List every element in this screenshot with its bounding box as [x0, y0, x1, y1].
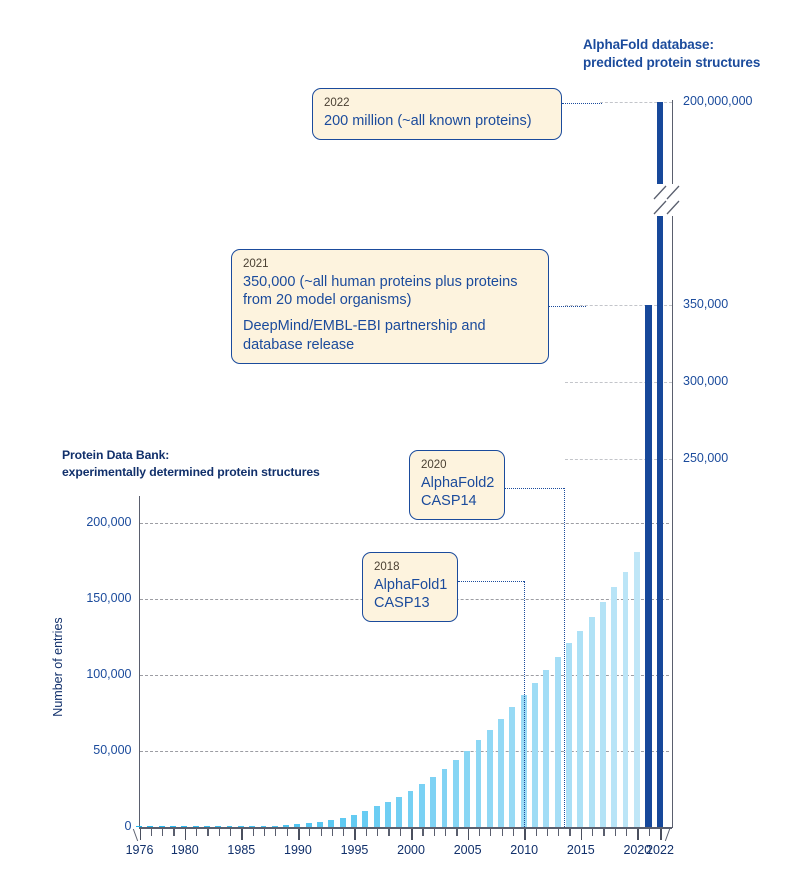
x-tick-2020	[637, 829, 639, 840]
x-tick-1998	[388, 829, 389, 836]
pdb-bar-1997	[374, 806, 380, 827]
pdb-bar-1996	[362, 811, 368, 827]
leader-2020-v	[564, 488, 565, 827]
pdb-bar-1979	[170, 826, 176, 827]
x-tick-2008	[502, 829, 503, 836]
x-tick-label-2015: 2015	[559, 843, 603, 857]
x-tick-1980	[185, 829, 187, 840]
x-tick-1996	[366, 829, 367, 836]
x-tick-2009	[513, 829, 514, 836]
pdb-bar-1987	[261, 826, 267, 827]
pdb-bar-1985	[238, 826, 244, 827]
alphafold-bar-2021	[645, 305, 651, 827]
x-tick-2011	[536, 829, 537, 836]
pdb-bar-2017	[600, 602, 606, 827]
x-tick-1988	[275, 829, 276, 836]
pdb-bar-1977	[147, 826, 153, 827]
pdb-bar-2003	[442, 769, 448, 827]
leader-2020-h	[505, 488, 564, 489]
pdb-bar-1995	[351, 815, 357, 827]
pdb-bar-series	[139, 496, 672, 827]
pdb-title-line1: Protein Data Bank:	[62, 447, 392, 464]
x-tick-1985	[241, 829, 243, 840]
pdb-bar-1992	[317, 822, 323, 827]
x-tick-1982	[207, 829, 208, 836]
x-tick-2002	[434, 829, 435, 836]
x-tick-leader-2022	[657, 829, 670, 841]
pdb-bar-1998	[385, 802, 391, 827]
x-tick-1979	[173, 829, 174, 836]
alphafold-title-line2: predicted protein structures	[583, 54, 798, 72]
pdb-bar-1982	[204, 826, 210, 827]
right-tick-label-200000000: 200,000,000	[683, 94, 753, 108]
pdb-bar-2008	[498, 719, 504, 827]
x-tick-2015	[581, 829, 583, 840]
x-tick-1986	[253, 829, 254, 836]
callout-2018-year: 2018	[374, 560, 446, 575]
pdb-bar-2013	[555, 657, 561, 827]
x-tick-1993	[332, 829, 333, 836]
pdb-bar-1994	[340, 818, 346, 827]
x-tick-label-2022: 2022	[638, 843, 682, 857]
pdb-bar-1976	[136, 826, 142, 827]
pdb-bar-1988	[272, 826, 278, 827]
pdb-bar-2001	[419, 784, 425, 827]
pdb-bar-2002	[430, 777, 436, 827]
callout-2018[interactable]: 2018 AlphaFold1 CASP13	[362, 552, 458, 622]
x-tick-label-1985: 1985	[219, 843, 263, 857]
x-tick-label-1990: 1990	[276, 843, 320, 857]
pdb-bar-2007	[487, 730, 493, 827]
callout-2020[interactable]: 2020 AlphaFold2 CASP14	[409, 450, 505, 520]
alphafold-title-line1: AlphaFold database:	[583, 36, 798, 54]
pdb-bar-2005	[464, 751, 470, 827]
alphafold-section-title: AlphaFold database: predicted protein st…	[583, 36, 798, 72]
x-tick-1983	[219, 829, 220, 836]
pdb-bar-1991	[306, 823, 312, 827]
left-tick-label-200000: 200,000	[24, 515, 132, 529]
x-tick-1995	[354, 829, 356, 840]
x-tick-label-1976: 1976	[118, 843, 162, 857]
x-tick-1978	[162, 829, 163, 836]
x-tick-leader-1976	[132, 829, 144, 841]
leader-2021	[549, 306, 586, 307]
leader-2018-h	[458, 581, 524, 582]
callout-2020-line2: CASP14	[421, 492, 493, 510]
right-tick-label-250000: 250,000	[683, 451, 728, 465]
pdb-bar-2016	[589, 617, 595, 827]
pdb-bar-2018	[611, 587, 617, 827]
callout-2022-year: 2022	[324, 96, 550, 111]
callout-2021-line4: database release	[243, 336, 537, 354]
pdb-bar-2019	[623, 572, 629, 827]
pdb-bar-2020	[634, 552, 640, 827]
x-tick-2006	[479, 829, 480, 836]
callout-2020-year: 2020	[421, 458, 493, 473]
pdb-bar-1980	[181, 826, 187, 827]
callout-2022[interactable]: 2022 200 million (~all known proteins)	[312, 88, 562, 140]
pdb-bar-2014	[566, 643, 572, 827]
pdb-bar-1986	[249, 826, 255, 827]
pdb-bar-2006	[476, 740, 482, 827]
callout-2021-line3: DeepMind/EMBL-EBI partnership and	[243, 317, 537, 335]
x-tick-2005	[468, 829, 470, 840]
pdb-bar-1993	[328, 820, 334, 827]
pdb-bar-2011	[532, 683, 538, 827]
pdb-bar-1981	[193, 826, 199, 827]
x-tick-label-2005: 2005	[446, 843, 490, 857]
callout-2021-line1: 350,000 (~all human proteins plus protei…	[243, 273, 537, 291]
pdb-bar-2012	[543, 670, 549, 827]
pdb-bar-1978	[159, 826, 165, 827]
pdb-section-title: Protein Data Bank: experimentally determ…	[62, 447, 392, 480]
x-tick-2001	[422, 829, 423, 836]
x-tick-label-1995: 1995	[332, 843, 376, 857]
x-tick-2000	[411, 829, 413, 840]
x-tick-1981	[196, 829, 197, 836]
pdb-bar-1984	[227, 826, 233, 827]
x-tick-1997	[377, 829, 378, 836]
x-tick-2017	[603, 829, 604, 836]
callout-2022-line1: 200 million (~all known proteins)	[324, 112, 550, 130]
pdb-bar-1999	[396, 797, 402, 827]
x-tick-label-2000: 2000	[389, 843, 433, 857]
x-tick-2014	[569, 829, 570, 836]
x-tick-1977	[151, 829, 152, 836]
x-tick-1987	[264, 829, 265, 836]
axis-break-right-axis	[664, 184, 682, 216]
x-tick-2007	[490, 829, 491, 836]
x-tick-2019	[626, 829, 627, 836]
pdb-bar-2009	[509, 707, 515, 827]
left-tick-label-50000: 50,000	[24, 743, 132, 757]
pdb-bar-2015	[577, 631, 583, 827]
pdb-bar-1990	[294, 824, 300, 827]
x-tick-1991	[309, 829, 310, 836]
x-tick-2012	[547, 829, 548, 836]
left-tick-label-0: 0	[24, 819, 132, 833]
x-tick-1992	[321, 829, 322, 836]
x-tick-2016	[592, 829, 593, 836]
callout-2018-line2: CASP13	[374, 594, 446, 612]
pdb-title-line2: experimentally determined protein struct…	[62, 464, 392, 481]
x-tick-1989	[287, 829, 288, 836]
callout-2021-line2: from 20 model organisms)	[243, 291, 537, 309]
x-tick-1984	[230, 829, 231, 836]
pdb-bar-1983	[215, 826, 221, 827]
x-tick-2013	[558, 829, 559, 836]
x-tick-2021	[649, 829, 650, 836]
leader-2018-v	[524, 581, 525, 827]
callout-2020-line1: AlphaFold2	[421, 474, 493, 492]
x-tick-2010	[524, 829, 526, 840]
x-tick-1990	[298, 829, 300, 840]
x-tick-2004	[456, 829, 457, 836]
pdb-bar-2000	[408, 791, 414, 827]
x-tick-label-2010: 2010	[502, 843, 546, 857]
left-tick-label-100000: 100,000	[24, 667, 132, 681]
callout-2021[interactable]: 2021 350,000 (~all human proteins plus p…	[231, 249, 549, 364]
callout-2021-year: 2021	[243, 257, 537, 272]
right-tick-label-350000: 350,000	[683, 297, 728, 311]
leader-2022	[562, 103, 602, 104]
x-tick-1994	[343, 829, 344, 836]
pdb-bar-1989	[283, 825, 289, 827]
x-tick-1999	[400, 829, 401, 836]
x-tick-2003	[445, 829, 446, 836]
callout-2018-line1: AlphaFold1	[374, 576, 446, 594]
left-tick-label-150000: 150,000	[24, 591, 132, 605]
right-tick-label-300000: 300,000	[683, 374, 728, 388]
x-tick-2018	[615, 829, 616, 836]
pdb-bar-2004	[453, 760, 459, 827]
x-tick-label-1980: 1980	[163, 843, 207, 857]
